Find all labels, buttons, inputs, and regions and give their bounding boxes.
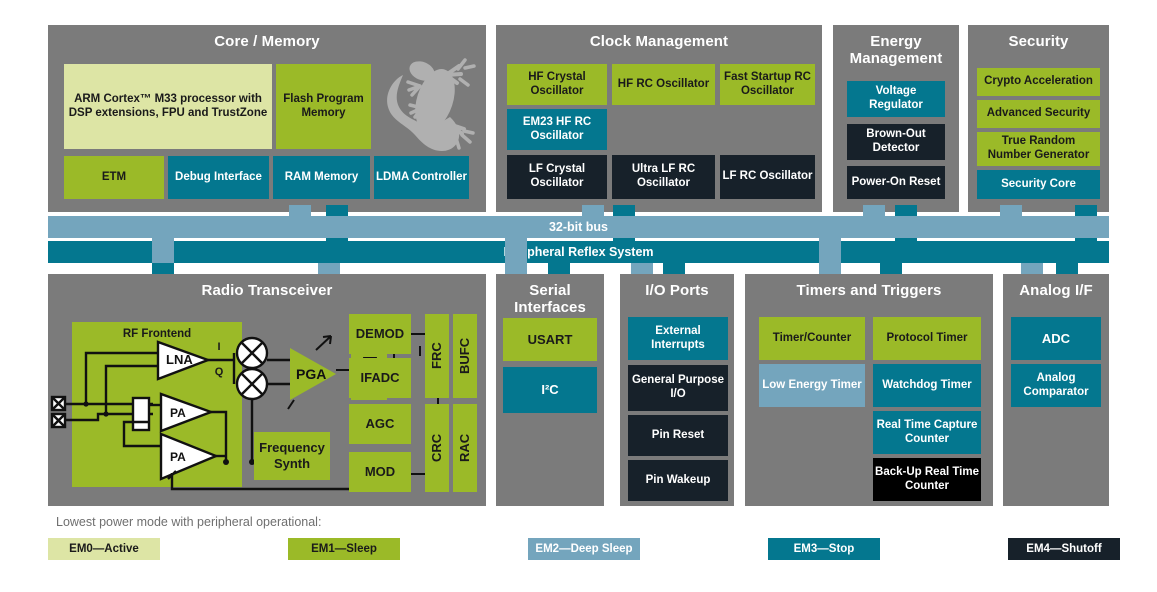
block-protocol-timer[interactable]: Protocol Timer bbox=[873, 317, 981, 360]
panel-title-analog-if: Analog I/F bbox=[1003, 274, 1109, 299]
block-crc[interactable]: CRC bbox=[425, 404, 449, 492]
block-lf-rc-oscillator[interactable]: LF RC Oscillator bbox=[720, 155, 815, 199]
block-power-on-reset[interactable]: Power-On Reset bbox=[847, 166, 945, 199]
block-crypto-acceleration[interactable]: Crypto Acceleration bbox=[977, 68, 1100, 96]
block-backup-real-time-counter[interactable]: Back-Up Real Time Counter bbox=[873, 458, 981, 501]
block-frc[interactable]: FRC bbox=[425, 314, 449, 398]
block-external-interrupts[interactable]: External Interrupts bbox=[628, 317, 728, 360]
block-voltage-regulator[interactable]: Voltage Regulator bbox=[847, 81, 945, 117]
block-general-purpose-io[interactable]: General Purpose I/O bbox=[628, 365, 728, 411]
block-pin-wakeup[interactable]: Pin Wakeup bbox=[628, 460, 728, 501]
legend-item-em0[interactable]: EM0—Active bbox=[48, 538, 160, 560]
block-timer-counter[interactable]: Timer/Counter bbox=[759, 317, 865, 360]
block-demod[interactable]: DEMOD bbox=[349, 314, 411, 354]
block-security-core[interactable]: Security Core bbox=[977, 170, 1100, 199]
bus-stub bbox=[1021, 263, 1043, 274]
block-bufc[interactable]: BUFC bbox=[453, 314, 477, 398]
block-diagram: Core / Memory ARM Cortex™ M33 processor … bbox=[0, 0, 1157, 592]
bus-stub bbox=[1056, 263, 1078, 274]
legend-item-em3[interactable]: EM3—Stop bbox=[768, 538, 880, 560]
bus-stub bbox=[318, 263, 340, 274]
block-i2c[interactable]: I²C bbox=[503, 367, 597, 413]
block-hf-rc-oscillator[interactable]: HF RC Oscillator bbox=[612, 64, 715, 105]
rf-frontend-label: RF Frontend bbox=[102, 328, 212, 340]
block-fast-startup-rc-oscillator[interactable]: Fast Startup RC Oscillator bbox=[720, 64, 815, 105]
block-real-time-capture-counter[interactable]: Real Time Capture Counter bbox=[873, 411, 981, 454]
block-ifadc[interactable]: IFADC bbox=[349, 358, 411, 398]
legend-item-em1[interactable]: EM1—Sleep bbox=[288, 538, 400, 560]
panel-title-security: Security bbox=[968, 25, 1109, 50]
bus-stub bbox=[582, 205, 604, 216]
bus-stub bbox=[505, 238, 527, 274]
block-adc[interactable]: ADC bbox=[1011, 317, 1101, 360]
block-brown-out-detector[interactable]: Brown-Out Detector bbox=[847, 124, 945, 160]
legend-caption: Lowest power mode with peripheral operat… bbox=[56, 515, 321, 529]
bus-peripheral-reflex-system: Peripheral Reflex System bbox=[48, 241, 1109, 263]
block-em23-hf-rc-oscillator[interactable]: EM23 HF RC Oscillator bbox=[507, 109, 607, 150]
bus-stub bbox=[289, 205, 311, 216]
panel-title-clock-management: Clock Management bbox=[496, 25, 822, 50]
block-agc[interactable]: AGC bbox=[349, 404, 411, 444]
bus-stub bbox=[663, 263, 685, 274]
block-low-energy-timer[interactable]: Low Energy Timer bbox=[759, 364, 865, 407]
legend-item-em2[interactable]: EM2—Deep Sleep bbox=[528, 538, 640, 560]
panel-title-serial-interfaces: Serial Interfaces bbox=[496, 274, 604, 317]
block-watchdog-timer[interactable]: Watchdog Timer bbox=[873, 364, 981, 407]
bus-stub bbox=[548, 263, 570, 274]
block-lf-crystal-oscillator[interactable]: LF Crystal Oscillator bbox=[507, 155, 607, 199]
signal-label-q: Q bbox=[214, 366, 224, 378]
block-debug-interface[interactable]: Debug Interface bbox=[168, 156, 269, 199]
bus-stub bbox=[152, 263, 174, 274]
bus-stub bbox=[863, 205, 885, 216]
block-true-random-number-generator[interactable]: True Random Number Generator bbox=[977, 132, 1100, 166]
panel-title-core-memory: Core / Memory bbox=[48, 25, 486, 50]
block-hf-crystal-oscillator[interactable]: HF Crystal Oscillator bbox=[507, 64, 607, 105]
block-etm[interactable]: ETM bbox=[64, 156, 164, 199]
panel-title-timers-and-triggers: Timers and Triggers bbox=[745, 274, 993, 299]
block-ram-memory[interactable]: RAM Memory bbox=[273, 156, 370, 199]
block-flash-program-memory[interactable]: Flash Program Memory bbox=[276, 64, 371, 149]
block-rac[interactable]: RAC bbox=[453, 404, 477, 492]
signal-label-i: I bbox=[214, 341, 224, 353]
block-frequency-synth[interactable]: Frequency Synth bbox=[254, 432, 330, 480]
legend-item-em4[interactable]: EM4—Shutoff bbox=[1008, 538, 1120, 560]
block-ldma-controller[interactable]: LDMA Controller bbox=[374, 156, 469, 199]
block-ultra-lf-rc-oscillator[interactable]: Ultra LF RC Oscillator bbox=[612, 155, 715, 199]
block-arm-cortex-m33[interactable]: ARM Cortex™ M33 processor with DSP exten… bbox=[64, 64, 272, 149]
panel-title-io-ports: I/O Ports bbox=[620, 274, 734, 299]
block-pin-reset[interactable]: Pin Reset bbox=[628, 415, 728, 456]
bus-stub bbox=[880, 263, 902, 274]
bus-stub bbox=[1000, 205, 1022, 216]
bus-stub bbox=[819, 238, 841, 274]
panel-title-radio-transceiver: Radio Transceiver bbox=[48, 274, 486, 299]
panel-title-energy-management: Energy Management bbox=[833, 25, 959, 68]
block-usart[interactable]: USART bbox=[503, 318, 597, 361]
bus-stub bbox=[631, 263, 653, 274]
block-advanced-security[interactable]: Advanced Security bbox=[977, 100, 1100, 128]
bus-32-bit-label: 32-bit bus bbox=[549, 220, 608, 234]
block-analog-comparator[interactable]: Analog Comparator bbox=[1011, 364, 1101, 407]
bus-32-bit: 32-bit bus bbox=[48, 216, 1109, 238]
block-mod[interactable]: MOD bbox=[349, 452, 411, 492]
